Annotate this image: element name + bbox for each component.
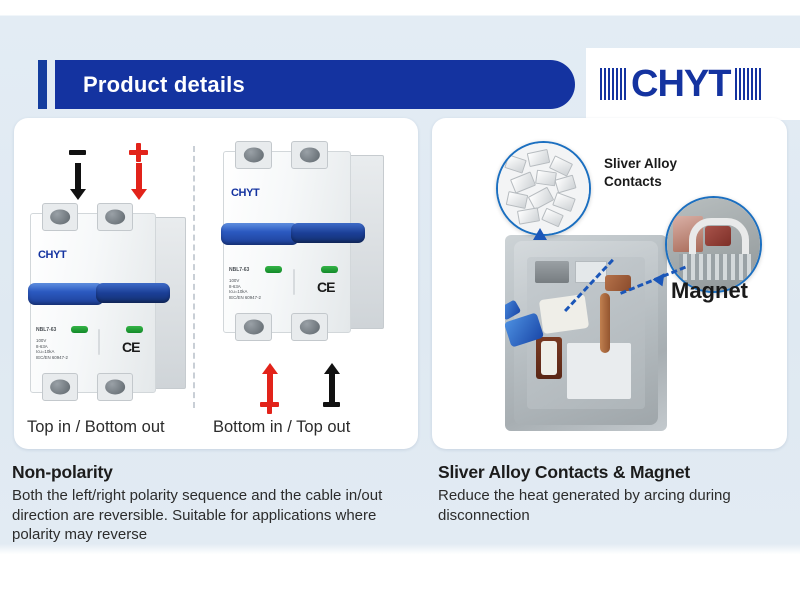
callout-sliver-alloy-contacts <box>496 141 591 236</box>
minus-mark-top-left-icon <box>69 150 86 155</box>
brand-logo: CHYT <box>586 48 800 120</box>
slide-header: Product details CHYT <box>0 28 800 90</box>
caption-title-right: Sliver Alloy Contacts & Magnet <box>438 462 788 483</box>
logo-wordmark: CHYT <box>631 65 730 103</box>
plus-mark-top-right-icon <box>129 143 148 162</box>
device-ce-mark-b: CE <box>317 279 334 295</box>
minus-mark-bottom-right-icon <box>323 402 340 407</box>
figure-a-caption: Top in / Bottom out <box>27 418 165 437</box>
caption-text-left: Both the left/right polarity sequence an… <box>12 486 422 545</box>
plus-mark-bottom-left-icon <box>260 395 279 414</box>
caption-text-right: Reduce the heat generated by arcing duri… <box>438 486 788 525</box>
sliver-alloy-chips-image <box>498 143 589 234</box>
header-title-bar: Product details <box>55 60 575 109</box>
breaker-cutaway-photo <box>505 235 667 431</box>
device-spec-a: 100V8-63AIcu=10kAIEC/EN 60947-2 <box>36 338 68 360</box>
logo-stripes-right-icon <box>735 68 761 100</box>
caption-block-sliver-magnet: Sliver Alloy Contacts & Magnet Reduce th… <box>438 462 788 525</box>
figure-b-caption: Bottom in / Top out <box>213 418 350 437</box>
logo-stripes-left-icon <box>600 68 626 100</box>
header-accent-tick <box>38 60 47 109</box>
device-spec-b: 100V8-63AIcu=10kAIEC/EN 60947-2 <box>229 278 261 300</box>
device-model-label-b: NBL7-63 <box>229 267 249 273</box>
page-title: Product details <box>83 60 245 109</box>
caption-title-left: Non-polarity <box>12 462 422 483</box>
breaker-device-b: CHYT NBL7-63 100V8-63AIcu=10kAIEC/EN 609… <box>215 143 390 343</box>
device-brand-label-b: CHYT <box>231 187 259 199</box>
device-model-label-a: NBL7-63 <box>36 327 56 333</box>
label-sliver-alloy-contacts: Sliver Alloy Contacts <box>604 155 677 191</box>
breaker-device-a: CHYT NBL7-63 100V8-63AIcu=10kAIEC/EN 609… <box>22 205 187 400</box>
device-brand-label-a: CHYT <box>38 249 66 261</box>
device-ce-mark-a: CE <box>122 339 139 355</box>
caption-block-non-polarity: Non-polarity Both the left/right polarit… <box>12 462 422 545</box>
label-magnet: Magnet <box>671 278 748 304</box>
pointer-arrow-sliver-icon <box>533 228 547 240</box>
panel-divider <box>193 146 195 408</box>
